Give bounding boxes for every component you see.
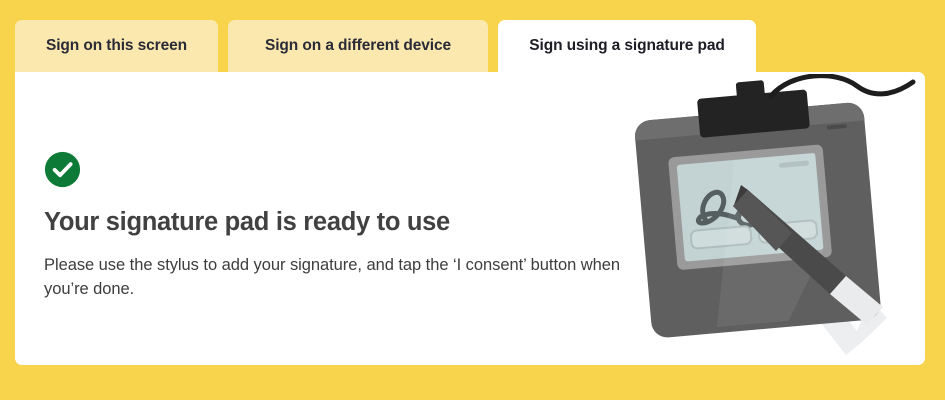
pad-connector [697, 89, 810, 137]
signature-pad-illustration [621, 74, 925, 364]
tab-sign-on-a-different-device[interactable]: Sign on a different device [228, 20, 488, 72]
panel-text-column: Your signature pad is ready to use Pleas… [44, 72, 644, 302]
instruction-text: Please use the stylus to add your signat… [44, 254, 620, 302]
tab-label: Sign on a different device [265, 37, 451, 55]
stylus-shadow-shape [791, 270, 887, 355]
pad-screen-button-left [690, 226, 751, 249]
signature-pad-tab-page: Sign on this screen Sign on a different … [0, 0, 945, 400]
pad-screen-button-right [758, 220, 817, 243]
pad-screen [677, 153, 824, 262]
signature-scribble [696, 189, 761, 230]
pad-screen-bezel [668, 144, 832, 270]
signature-pad-body [631, 74, 882, 339]
check-circle-icon [44, 151, 81, 188]
tab-label: Sign on this screen [46, 37, 187, 55]
tab-sign-using-a-signature-pad[interactable]: Sign using a signature pad [498, 20, 756, 72]
stylus [733, 185, 883, 325]
tab-label: Sign using a signature pad [529, 37, 724, 55]
tab-sign-on-this-screen[interactable]: Sign on this screen [15, 20, 218, 72]
pad-cable [771, 76, 913, 96]
tab-panel: Your signature pad is ready to use Pleas… [15, 72, 925, 365]
page-title: Your signature pad is ready to use [44, 208, 644, 237]
stylus-cap [830, 276, 883, 325]
tab-bar: Sign on this screen Sign on a different … [15, 20, 756, 72]
